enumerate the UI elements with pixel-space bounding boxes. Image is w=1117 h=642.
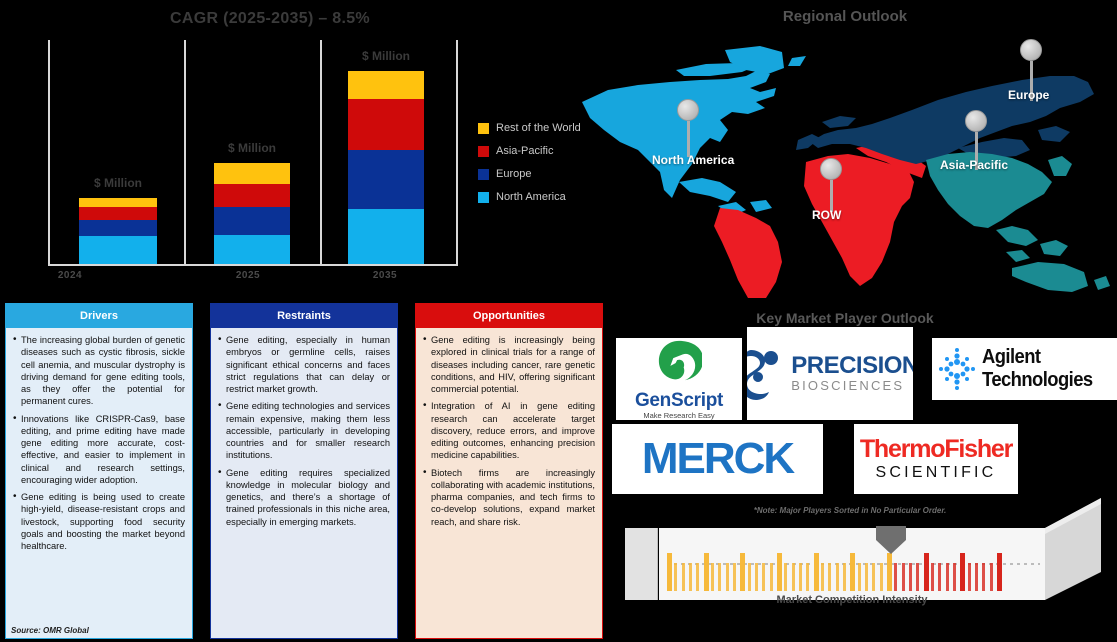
legend-label: North America — [496, 191, 566, 203]
list-item: The increasing global burden of genetic … — [13, 334, 185, 408]
axis-divider — [48, 40, 50, 266]
players-note: *Note: Major Players Sorted in No Partic… — [700, 506, 1000, 515]
pin-head-icon — [677, 99, 699, 121]
gauge-tick — [953, 563, 956, 591]
segment-rest-of-world — [348, 71, 424, 99]
bar-value-label-2035: $ Million — [316, 49, 456, 63]
gauge-tick — [982, 563, 985, 591]
segment-rest-of-world — [79, 198, 157, 207]
panel-body-restraints: Gene editing, especially in human embryo… — [211, 328, 397, 640]
precision-helix-icon — [747, 346, 785, 402]
panel-restraints: Restraints Gene editing, especially in h… — [210, 303, 398, 639]
legend-swatch-icon — [478, 123, 489, 134]
bar-2025[interactable] — [214, 163, 290, 264]
gauge-label: Market Competition Intensity — [659, 594, 1045, 606]
list-item: Gene editing, especially in human embryo… — [218, 334, 390, 395]
legend-swatch-icon — [478, 169, 489, 180]
panel-body-opportunities: Gene editing is increasingly being explo… — [416, 328, 602, 640]
x-axis-line — [48, 264, 458, 266]
panel-opportunities: Opportunities Gene editing is increasing… — [415, 303, 603, 639]
gauge-tick — [865, 563, 868, 591]
gauge-tick — [792, 563, 795, 591]
segment-europe — [214, 207, 290, 235]
market-competition-gauge: Market Competition Intensity — [625, 528, 1115, 604]
bar-chart: $ Million $ Million $ Million — [48, 40, 458, 266]
segment-europe — [79, 220, 157, 236]
gauge-tick — [733, 563, 736, 591]
gauge-tick — [858, 563, 861, 591]
gauge-fold-shape — [1045, 498, 1115, 602]
logo-subtext-precision: BIOSCIENCES — [791, 378, 913, 394]
pin-head-icon — [820, 158, 842, 180]
list-item: Gene editing is increasingly being explo… — [423, 334, 595, 395]
infographic-canvas: CAGR (2025-2035) – 8.5% $ Million $ Mill… — [0, 0, 1117, 642]
gauge-tick — [938, 563, 941, 591]
segment-asia-pacific — [348, 99, 424, 150]
pin-head-icon — [965, 110, 987, 132]
gauge-tick — [836, 563, 839, 591]
pin-stem-icon — [687, 121, 690, 157]
gauge-tick — [806, 563, 809, 591]
gauge-tick — [931, 563, 934, 591]
gauge-tick — [880, 563, 883, 591]
gauge-tick — [748, 563, 751, 591]
logo-subtext-thermofisher: SCIENTIFIC — [860, 465, 1012, 481]
logo-card-agilent[interactable]: Agilent Technologies — [932, 338, 1117, 400]
world-map: North America ROW Asia-Pacific Europe — [560, 30, 1117, 298]
panel-title-drivers: Drivers — [6, 304, 192, 328]
gauge-tick — [814, 553, 819, 591]
panel-body-drivers: The increasing global burden of genetic … — [6, 328, 192, 640]
list-item: Gene editing technologies and services r… — [218, 400, 390, 461]
gauge-tick — [828, 563, 831, 591]
pin-head-icon — [1020, 39, 1042, 61]
panel-title-restraints: Restraints — [211, 304, 397, 328]
agilent-starburst-icon — [936, 345, 978, 393]
map-title: Regional Outlook — [700, 8, 990, 25]
gauge-tick — [975, 563, 978, 591]
gauge-tick — [894, 563, 897, 591]
map-label-asia-pacific: Asia-Pacific — [940, 158, 1008, 172]
panel-drivers: Drivers The increasing global burden of … — [5, 303, 193, 639]
x-tick-2025: 2025 — [188, 270, 308, 281]
bar-value-label-2025: $ Million — [182, 141, 322, 155]
gauge-tick — [946, 563, 949, 591]
map-region-asia-pacific[interactable] — [926, 152, 1110, 292]
gauge-tick — [682, 563, 685, 591]
gauge-tick — [887, 553, 892, 591]
axis-divider — [456, 40, 458, 266]
gauge-left-panel — [625, 528, 658, 600]
gauge-tick — [696, 563, 699, 591]
gauge-tick — [872, 563, 875, 591]
logo-card-merck[interactable]: MERCK — [612, 424, 823, 494]
gauge-tick — [740, 553, 745, 591]
logo-text-thermofisher: ThermoFisher — [860, 437, 1012, 462]
gauge-tick — [902, 563, 905, 591]
logo-card-genscript[interactable]: GenScript Make Research Easy — [616, 338, 742, 420]
gauge-tick — [667, 553, 672, 591]
list-item: Gene editing requires specialized knowle… — [218, 467, 390, 528]
players-section-title: Key Market Player Outlook — [700, 310, 990, 326]
gauge-tick — [726, 563, 729, 591]
gauge-tick — [711, 563, 714, 591]
segment-north-america — [79, 236, 157, 264]
bar-value-label-2024: $ Million — [48, 176, 188, 190]
x-tick-2035: 2035 — [325, 270, 445, 281]
gauge-tick — [850, 553, 855, 591]
segment-north-america — [214, 235, 290, 264]
gauge-tick — [799, 563, 802, 591]
logo-text-genscript: GenScript — [635, 391, 723, 410]
gauge-tick — [968, 563, 971, 591]
logo-text-merck: MERCK — [642, 434, 793, 484]
map-label-row: ROW — [812, 208, 841, 222]
genscript-leaf-icon — [656, 339, 702, 385]
map-label-north-america: North America — [652, 153, 734, 167]
list-item: Integration of AI in gene editing resear… — [423, 400, 595, 461]
logo-text-precision: PRECISION — [791, 354, 913, 378]
legend-label: Europe — [496, 168, 531, 180]
legend-label: Asia-Pacific — [496, 145, 553, 157]
gauge-tick — [689, 563, 692, 591]
gauge-tick — [674, 563, 677, 591]
gauge-tick — [777, 553, 782, 591]
logo-tagline-genscript: Make Research Easy — [635, 412, 723, 420]
legend-swatch-icon — [478, 146, 489, 157]
gauge-tick — [843, 563, 846, 591]
gauge-tick — [909, 563, 912, 591]
gauge-tick — [784, 563, 787, 591]
gauge-tick — [916, 563, 919, 591]
map-pin-north-america[interactable] — [677, 99, 699, 157]
gauge-tick — [704, 553, 709, 591]
gauge-tick — [997, 553, 1002, 591]
list-item: Biotech firms are increasingly collabora… — [423, 467, 595, 528]
list-item: Gene editing is being used to create hig… — [13, 491, 185, 552]
segment-asia-pacific — [79, 207, 157, 220]
segment-north-america — [348, 209, 424, 264]
logo-card-precision-biosciences[interactable]: PRECISION BIOSCIENCES — [747, 327, 913, 420]
bar-2035[interactable] — [348, 71, 424, 264]
list-item: Innovations like CRISPR-Cas9, base editi… — [13, 413, 185, 487]
gauge-tick — [960, 553, 965, 591]
x-tick-2024: 2024 — [10, 270, 130, 281]
chart-title: CAGR (2025-2035) – 8.5% — [110, 10, 430, 28]
bar-2024[interactable] — [79, 198, 157, 264]
gauge-tick — [990, 563, 993, 591]
gauge-tick — [718, 563, 721, 591]
legend-swatch-icon — [478, 192, 489, 203]
segment-europe — [348, 150, 424, 209]
source-note: Source: OMR Global — [11, 626, 89, 637]
gauge-tick — [762, 563, 765, 591]
segment-asia-pacific — [214, 184, 290, 207]
gauge-tick — [770, 563, 773, 591]
panel-title-opportunities: Opportunities — [416, 304, 602, 328]
gauge-marker-icon[interactable] — [876, 526, 906, 554]
segment-rest-of-world — [214, 163, 290, 184]
gauge-tick — [924, 553, 929, 591]
logo-card-thermofisher[interactable]: ThermoFisher SCIENTIFIC — [854, 424, 1018, 494]
gauge-tick — [821, 563, 824, 591]
map-label-europe: Europe — [1008, 88, 1049, 102]
map-pin-row[interactable] — [820, 158, 842, 212]
gauge-tick — [755, 563, 758, 591]
logo-text-agilent: Agilent Technologies — [982, 346, 1105, 392]
